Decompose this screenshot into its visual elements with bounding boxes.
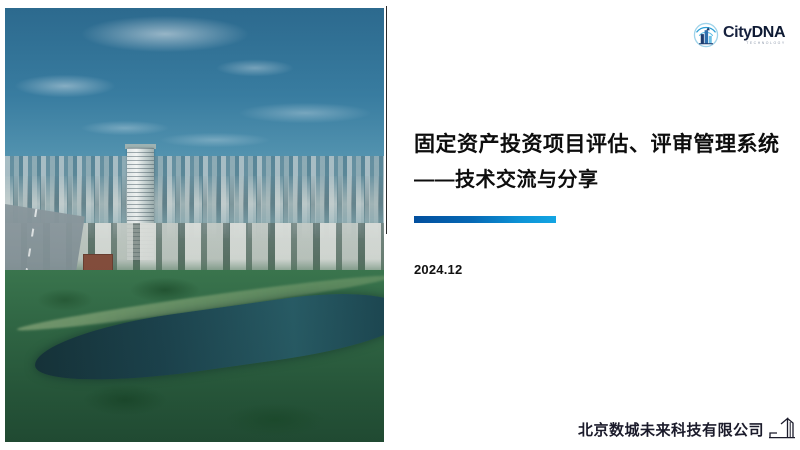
title-slide: CityDNA TECHNOLOGY 固定资产投资项目评估、评审管理系统 ——技… — [0, 0, 800, 450]
accent-bar — [414, 216, 556, 223]
footer-company: 北京数城未来科技有限公司 — [578, 412, 798, 440]
building-skyline-icon — [768, 412, 798, 442]
company-name: 北京数城未来科技有限公司 — [578, 419, 764, 440]
presentation-date: 2024.12 — [414, 262, 462, 277]
page-subtitle: ——技术交流与分享 — [414, 168, 784, 193]
citydna-circular-building-logo-icon — [692, 21, 720, 49]
aerial-city-photo — [5, 8, 384, 442]
citydna-logo: CityDNA TECHNOLOGY — [692, 18, 788, 52]
title-block: 固定资产投资项目评估、评审管理系统 ——技术交流与分享 — [414, 132, 784, 193]
page-title: 固定资产投资项目评估、评审管理系统 — [414, 132, 784, 158]
logo-wordmark-text: CityDNA — [723, 25, 785, 41]
logo-subtitle: TECHNOLOGY — [722, 42, 785, 45]
vertical-divider — [386, 6, 387, 234]
photo-color-overlay — [5, 8, 384, 442]
logo-wordmark: CityDNA TECHNOLOGY — [723, 25, 785, 46]
cover-photo-panel — [5, 8, 384, 442]
